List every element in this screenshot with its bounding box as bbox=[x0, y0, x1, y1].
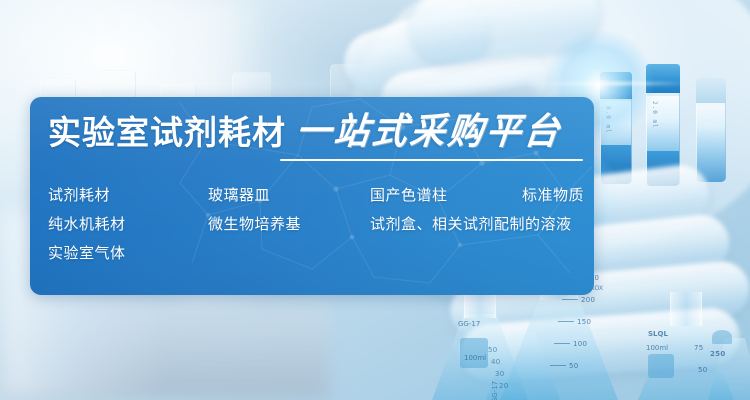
category-item-laboratory-gases[interactable]: 实验室气体 bbox=[48, 239, 126, 268]
graduation-label: 20 bbox=[499, 382, 509, 390]
category-row: 实验室气体 bbox=[48, 239, 588, 268]
graduation-label: 200 bbox=[581, 296, 595, 304]
graduation-label: 250 bbox=[710, 350, 726, 358]
graduation-label: 75 bbox=[694, 344, 704, 352]
vial-volume-label: 2.0 ml bbox=[651, 101, 658, 129]
headline-underline bbox=[280, 159, 583, 161]
flask-brand-mark: GG-17 bbox=[491, 381, 499, 400]
cryo-vial: 8.0 ml bbox=[600, 72, 632, 184]
graduation-tick bbox=[562, 299, 578, 300]
category-item-reagent-consumables[interactable]: 试剂耗材 bbox=[48, 181, 110, 210]
erlenmeyer-flask-e: 250 bbox=[708, 308, 750, 400]
category-row: 纯水机耗材 微生物培养基 试剂盒、相关试剂配制的溶液 bbox=[48, 210, 588, 239]
flask-cone bbox=[708, 338, 750, 400]
category-item-reference-materials[interactable]: 标准物质 bbox=[522, 181, 584, 210]
graduation-label: 50 bbox=[698, 366, 708, 374]
flask-brand-mark: GG-17 bbox=[458, 320, 480, 328]
cryo-vial bbox=[696, 78, 726, 182]
vial-cap bbox=[646, 64, 680, 96]
flask-brand-mark: SLQL bbox=[648, 330, 668, 338]
flask-label-patch bbox=[712, 330, 732, 344]
vial-volume-label: 8.0 ml bbox=[604, 106, 611, 134]
graduation-label: 50 bbox=[488, 346, 498, 354]
headline: 实验室试剂耗材 一站式采购平台 bbox=[48, 114, 562, 149]
graduation-label: 50 bbox=[569, 362, 579, 370]
graduation-label: 150 bbox=[577, 318, 591, 326]
category-item-reagent-kits-and-solutions[interactable]: 试剂盒、相关试剂配制的溶液 bbox=[370, 210, 572, 239]
flask-volume-mark: 100ml bbox=[464, 354, 486, 362]
graduation-label: 30 bbox=[495, 370, 505, 378]
graduation-tick bbox=[558, 321, 574, 322]
vial-cap bbox=[600, 72, 632, 101]
flask-neck bbox=[670, 292, 702, 326]
graduation-label: 100 bbox=[573, 340, 587, 348]
vial-cap bbox=[696, 78, 726, 105]
category-list: 试剂耗材 玻璃器皿 国产色谱柱 标准物质 纯水机耗材 微生物培养基 试剂盒、相关… bbox=[48, 181, 588, 268]
vial-body bbox=[696, 103, 726, 182]
flask-label-patch bbox=[648, 354, 674, 378]
category-row: 试剂耗材 玻璃器皿 国产色谱柱 标准物质 bbox=[48, 181, 588, 210]
flask-volume-mark: 100ml bbox=[646, 344, 668, 352]
flask-label-patch bbox=[460, 338, 488, 368]
category-item-water-purifier-consumables[interactable]: 纯水机耗材 bbox=[48, 210, 126, 239]
headline-brush-text: 一站式采购平台 bbox=[294, 113, 564, 149]
content-panel: 实验室试剂耗材 一站式采购平台 试剂耗材 玻璃器皿 国产色谱柱 标准物质 纯水机… bbox=[30, 97, 594, 295]
light-streak bbox=[540, 82, 690, 85]
category-item-glassware[interactable]: 玻璃器皿 bbox=[208, 181, 270, 210]
category-item-microbial-culture-media[interactable]: 微生物培养基 bbox=[208, 210, 301, 239]
category-item-domestic-chromatography-column[interactable]: 国产色谱柱 bbox=[370, 181, 448, 210]
laboratory-reagent-banner: 8.0 ml 2.0 ml 250 APPROX 200 150 100 50 bbox=[0, 0, 750, 400]
headline-main-text: 实验室试剂耗材 bbox=[48, 116, 286, 149]
graduation-label: 40 bbox=[491, 358, 501, 366]
erlenmeyer-flask-c: 50 40 30 20 GG-17 bbox=[486, 304, 560, 400]
